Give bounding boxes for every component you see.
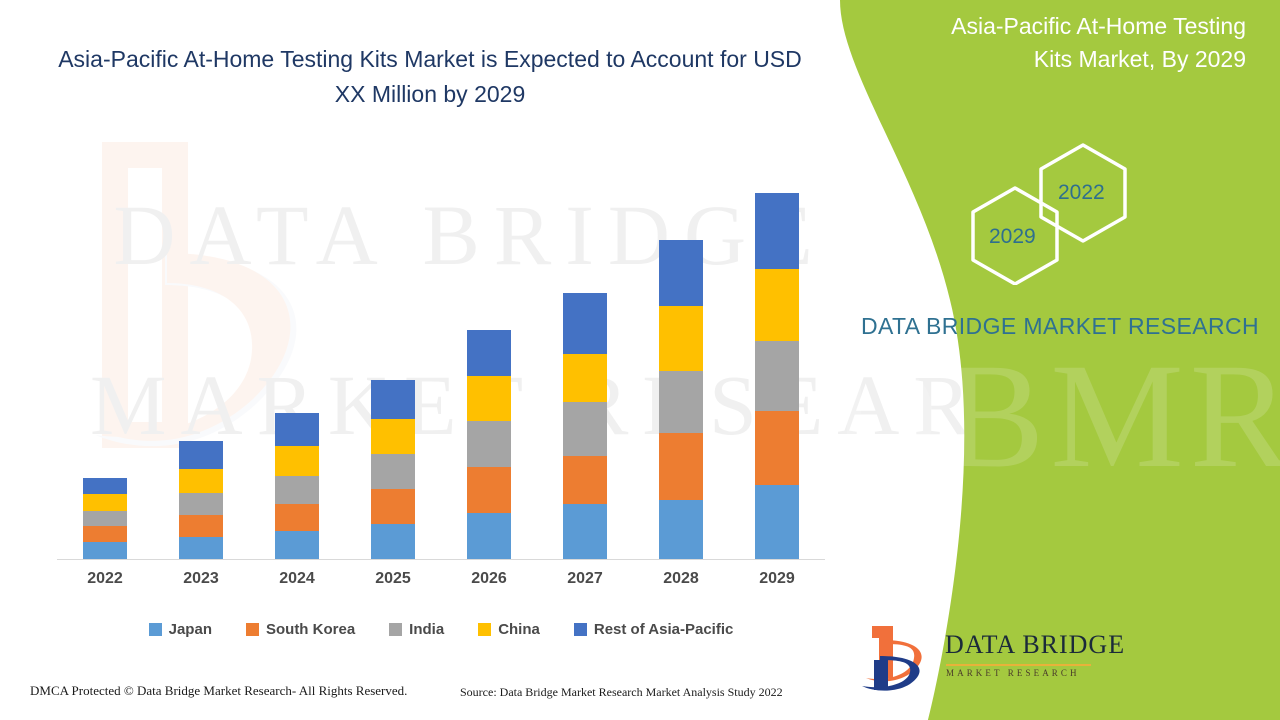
bar-segment-rest-of-asia-pacific: [563, 293, 607, 354]
bar-segment-south-korea: [371, 489, 415, 524]
bar-segment-india: [83, 511, 127, 526]
bar-segment-south-korea: [179, 515, 223, 537]
legend-swatch-icon: [574, 623, 587, 636]
bar-segment-japan: [659, 500, 703, 559]
bar-segment-south-korea: [755, 411, 799, 485]
x-axis-label-2028: 2028: [633, 570, 729, 588]
bar-segment-india: [371, 454, 415, 489]
legend-swatch-icon: [246, 623, 259, 636]
bar-2029: [755, 193, 799, 559]
x-axis-label-2029: 2029: [729, 570, 825, 588]
legend-swatch-icon: [478, 623, 491, 636]
bar-2024: [275, 413, 319, 559]
bar-segment-china: [371, 419, 415, 454]
infographic-page: DATA BRIDGE MARKET RESEARCH Asia-Pacific…: [0, 0, 1280, 720]
x-axis-label-2026: 2026: [441, 570, 537, 588]
legend-item-rest-of-asia-pacific[interactable]: Rest of Asia-Pacific: [574, 621, 734, 638]
hexagon-badges: 2022 2029: [963, 140, 1163, 285]
legend-label: South Korea: [266, 621, 355, 638]
bar-segment-japan: [563, 504, 607, 559]
x-axis-label-2025: 2025: [345, 570, 441, 588]
bar-2027: [563, 293, 607, 559]
bar-segment-india: [275, 476, 319, 504]
panel-title: Asia-Pacific At-Home Testing Kits Market…: [916, 10, 1246, 76]
bar-2025: [371, 380, 415, 559]
legend-item-south-korea[interactable]: South Korea: [246, 621, 355, 638]
page-title: Asia-Pacific At-Home Testing Kits Market…: [40, 42, 820, 112]
data-bridge-logo: DATA BRIDGE MARKET RESEARCH: [860, 620, 1080, 700]
chart-plot-area: [57, 175, 825, 560]
bar-segment-japan: [371, 524, 415, 559]
bar-segment-china: [275, 446, 319, 476]
bar-2028: [659, 240, 703, 559]
logo-divider: [946, 664, 1091, 666]
legend-label: Rest of Asia-Pacific: [594, 621, 734, 638]
x-axis-label-2022: 2022: [57, 570, 153, 588]
bar-segment-rest-of-asia-pacific: [83, 478, 127, 495]
footer-source: Source: Data Bridge Market Research Mark…: [460, 685, 783, 700]
bar-segment-japan: [179, 537, 223, 559]
bar-segment-india: [755, 341, 799, 411]
x-axis-labels: 20222023202420252026202720282029: [57, 570, 825, 600]
legend-swatch-icon: [149, 623, 162, 636]
panel-brand-name: DATA BRIDGE MARKET RESEARCH: [860, 310, 1260, 342]
bar-segment-rest-of-asia-pacific: [755, 193, 799, 269]
bar-segment-china: [563, 354, 607, 402]
data-bridge-mark-icon: [860, 620, 940, 695]
bar-segment-china: [83, 494, 127, 511]
hexagon-pair-icon: [963, 140, 1163, 285]
bar-segment-south-korea: [83, 526, 127, 543]
legend-label: India: [409, 621, 444, 638]
legend-item-india[interactable]: India: [389, 621, 444, 638]
bar-segment-rest-of-asia-pacific: [275, 413, 319, 446]
bar-segment-china: [179, 469, 223, 493]
bar-segment-india: [179, 493, 223, 515]
right-green-panel: Asia-Pacific At-Home Testing Kits Market…: [840, 0, 1280, 720]
legend-label: Japan: [169, 621, 212, 638]
bar-segment-japan: [755, 485, 799, 559]
bar-segment-japan: [275, 531, 319, 559]
x-axis-label-2023: 2023: [153, 570, 249, 588]
legend-label: China: [498, 621, 540, 638]
bar-segment-india: [563, 402, 607, 456]
bar-segment-china: [755, 269, 799, 341]
x-axis-line: [57, 559, 825, 560]
bar-segment-rest-of-asia-pacific: [659, 240, 703, 306]
bar-2022: [83, 478, 127, 559]
bar-segment-china: [659, 306, 703, 371]
stacked-bar-chart: [57, 175, 825, 560]
bar-2023: [179, 441, 223, 559]
bar-segment-south-korea: [467, 467, 511, 513]
chart-legend: JapanSouth KoreaIndiaChinaRest of Asia-P…: [57, 616, 825, 642]
footer-copyright: DMCA Protected © Data Bridge Market Rese…: [30, 683, 407, 699]
green-panel-shape: [840, 0, 1280, 720]
legend-swatch-icon: [389, 623, 402, 636]
bar-segment-china: [467, 376, 511, 420]
logo-subtitle: MARKET RESEARCH: [946, 668, 1080, 678]
legend-item-japan[interactable]: Japan: [149, 621, 212, 638]
bar-segment-rest-of-asia-pacific: [467, 330, 511, 376]
bar-2026: [467, 330, 511, 559]
bar-segment-south-korea: [659, 433, 703, 499]
bar-segment-rest-of-asia-pacific: [371, 380, 415, 419]
bar-segment-india: [659, 371, 703, 434]
legend-item-china[interactable]: China: [478, 621, 540, 638]
x-axis-label-2027: 2027: [537, 570, 633, 588]
logo-title: DATA BRIDGE: [945, 630, 1125, 660]
bar-segment-south-korea: [275, 504, 319, 532]
bar-segment-japan: [83, 542, 127, 559]
bar-segment-rest-of-asia-pacific: [179, 441, 223, 469]
x-axis-label-2024: 2024: [249, 570, 345, 588]
bar-segment-india: [467, 421, 511, 467]
bar-segment-japan: [467, 513, 511, 559]
panel-brand-text: DATA BRIDGE MARKET RESEARCH: [861, 313, 1259, 339]
bar-segment-south-korea: [563, 456, 607, 504]
